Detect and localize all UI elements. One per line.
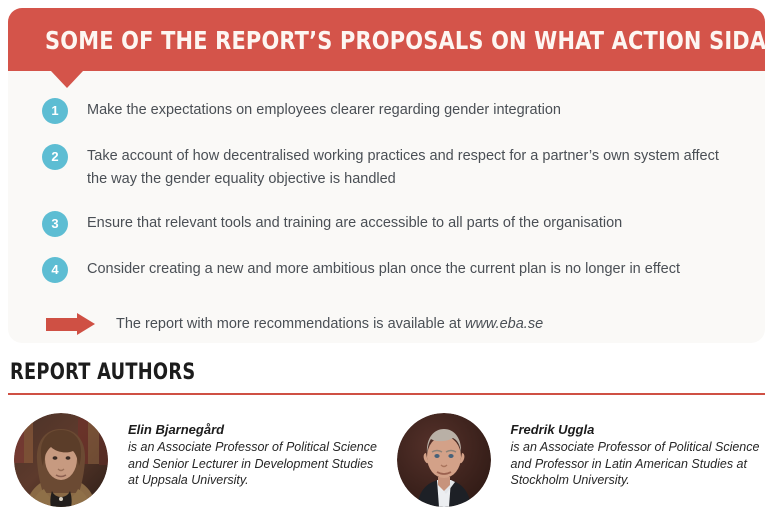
proposal-text: Make the expectations on employees clear…: [87, 97, 561, 122]
proposal-number-badge: 2: [42, 144, 68, 170]
report-link-row: The report with more recommendations is …: [8, 313, 765, 335]
author-bio: is an Associate Professor of Political S…: [128, 439, 380, 489]
proposal-number-badge: 4: [42, 257, 68, 283]
author-card: Fredrik Uggla is an Associate Professor …: [391, 413, 766, 507]
author-info: Elin Bjarnegård is an Associate Professo…: [128, 413, 380, 489]
authors-row: Elin Bjarnegård is an Associate Professo…: [8, 413, 765, 507]
list-item: 1 Make the expectations on employees cle…: [8, 97, 765, 124]
report-url[interactable]: www.eba.se: [465, 316, 543, 332]
proposal-text: Consider creating a new and more ambitio…: [87, 256, 680, 281]
report-link-text: The report with more recommendations is …: [116, 313, 543, 335]
author-name: Fredrik Uggla: [511, 422, 763, 437]
report-link-lead: The report with more recommendations is …: [116, 316, 465, 332]
list-item: 3 Ensure that relevant tools and trainin…: [8, 210, 765, 237]
avatar: [14, 413, 108, 507]
proposal-number-badge: 1: [42, 98, 68, 124]
author-bio: is an Associate Professor of Political S…: [511, 439, 763, 489]
authors-section: REPORT AUTHORS: [8, 360, 765, 507]
proposal-text: Take account of how decentralised workin…: [87, 143, 735, 191]
proposal-text: Ensure that relevant tools and training …: [87, 210, 622, 235]
list-item: 4 Consider creating a new and more ambit…: [8, 256, 765, 283]
portrait-fredrik-uggla-image: [397, 413, 491, 507]
authors-divider: [8, 393, 765, 395]
card-header-title: SOME OF THE REPORT’S PROPOSALS ON WHAT A…: [45, 27, 773, 54]
author-card: Elin Bjarnegård is an Associate Professo…: [8, 413, 383, 507]
avatar: [397, 413, 491, 507]
proposal-number-badge: 3: [42, 211, 68, 237]
proposals-card: SOME OF THE REPORT’S PROPOSALS ON WHAT A…: [8, 8, 765, 343]
author-name: Elin Bjarnegård: [128, 422, 380, 437]
author-info: Fredrik Uggla is an Associate Professor …: [511, 413, 763, 489]
right-arrow-icon: [46, 313, 96, 335]
authors-heading: REPORT AUTHORS: [10, 360, 690, 385]
proposal-list: 1 Make the expectations on employees cle…: [8, 71, 765, 335]
list-item: 2 Take account of how decentralised work…: [8, 143, 765, 191]
portrait-elin-bjarnegard-image: [14, 413, 108, 507]
card-header-banner: SOME OF THE REPORT’S PROPOSALS ON WHAT A…: [8, 8, 765, 71]
